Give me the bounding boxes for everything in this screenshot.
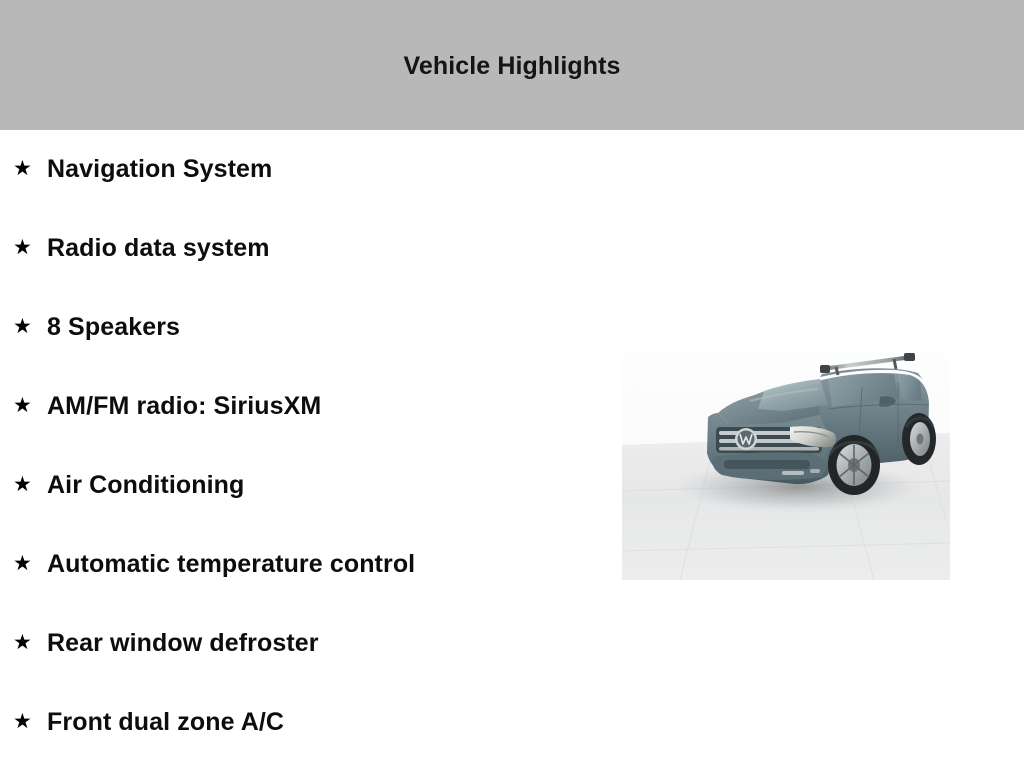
front-wheel xyxy=(828,435,880,495)
header-bar: Vehicle Highlights xyxy=(0,0,1024,130)
highlight-label: Front dual zone A/C xyxy=(47,708,284,737)
highlight-label: AM/FM radio: SiriusXM xyxy=(47,392,321,421)
list-item: ★ 8 Speakers xyxy=(0,288,620,367)
vw-emblem xyxy=(735,428,757,450)
list-item: ★ Navigation System xyxy=(0,130,620,209)
list-item: ★ Radio data system xyxy=(0,209,620,288)
vehicle-image-svg xyxy=(622,305,950,580)
highlight-label: Navigation System xyxy=(47,155,272,184)
vehicle-photo xyxy=(622,305,950,580)
highlight-label: Automatic temperature control xyxy=(47,550,415,579)
page-title: Vehicle Highlights xyxy=(0,52,1024,81)
star-icon: ★ xyxy=(13,395,47,416)
star-icon: ★ xyxy=(13,158,47,179)
list-item: ★ Rear window defroster xyxy=(0,604,620,683)
highlight-label: Air Conditioning xyxy=(47,471,244,500)
star-icon: ★ xyxy=(13,711,47,732)
star-icon: ★ xyxy=(13,237,47,258)
star-icon: ★ xyxy=(13,632,47,653)
star-icon: ★ xyxy=(13,553,47,574)
list-item: ★ Automatic temperature control xyxy=(0,525,620,604)
star-icon: ★ xyxy=(13,316,47,337)
highlight-label: Rear window defroster xyxy=(47,629,319,658)
highlight-label: Radio data system xyxy=(47,234,270,263)
vehicle-highlights-list: ★ Navigation System ★ Radio data system … xyxy=(0,130,620,762)
highlight-label: 8 Speakers xyxy=(47,313,180,342)
list-item: ★ Front dual zone A/C xyxy=(0,683,620,762)
list-item: ★ Air Conditioning xyxy=(0,446,620,525)
list-item: ★ AM/FM radio: SiriusXM xyxy=(0,367,620,446)
star-icon: ★ xyxy=(13,474,47,495)
